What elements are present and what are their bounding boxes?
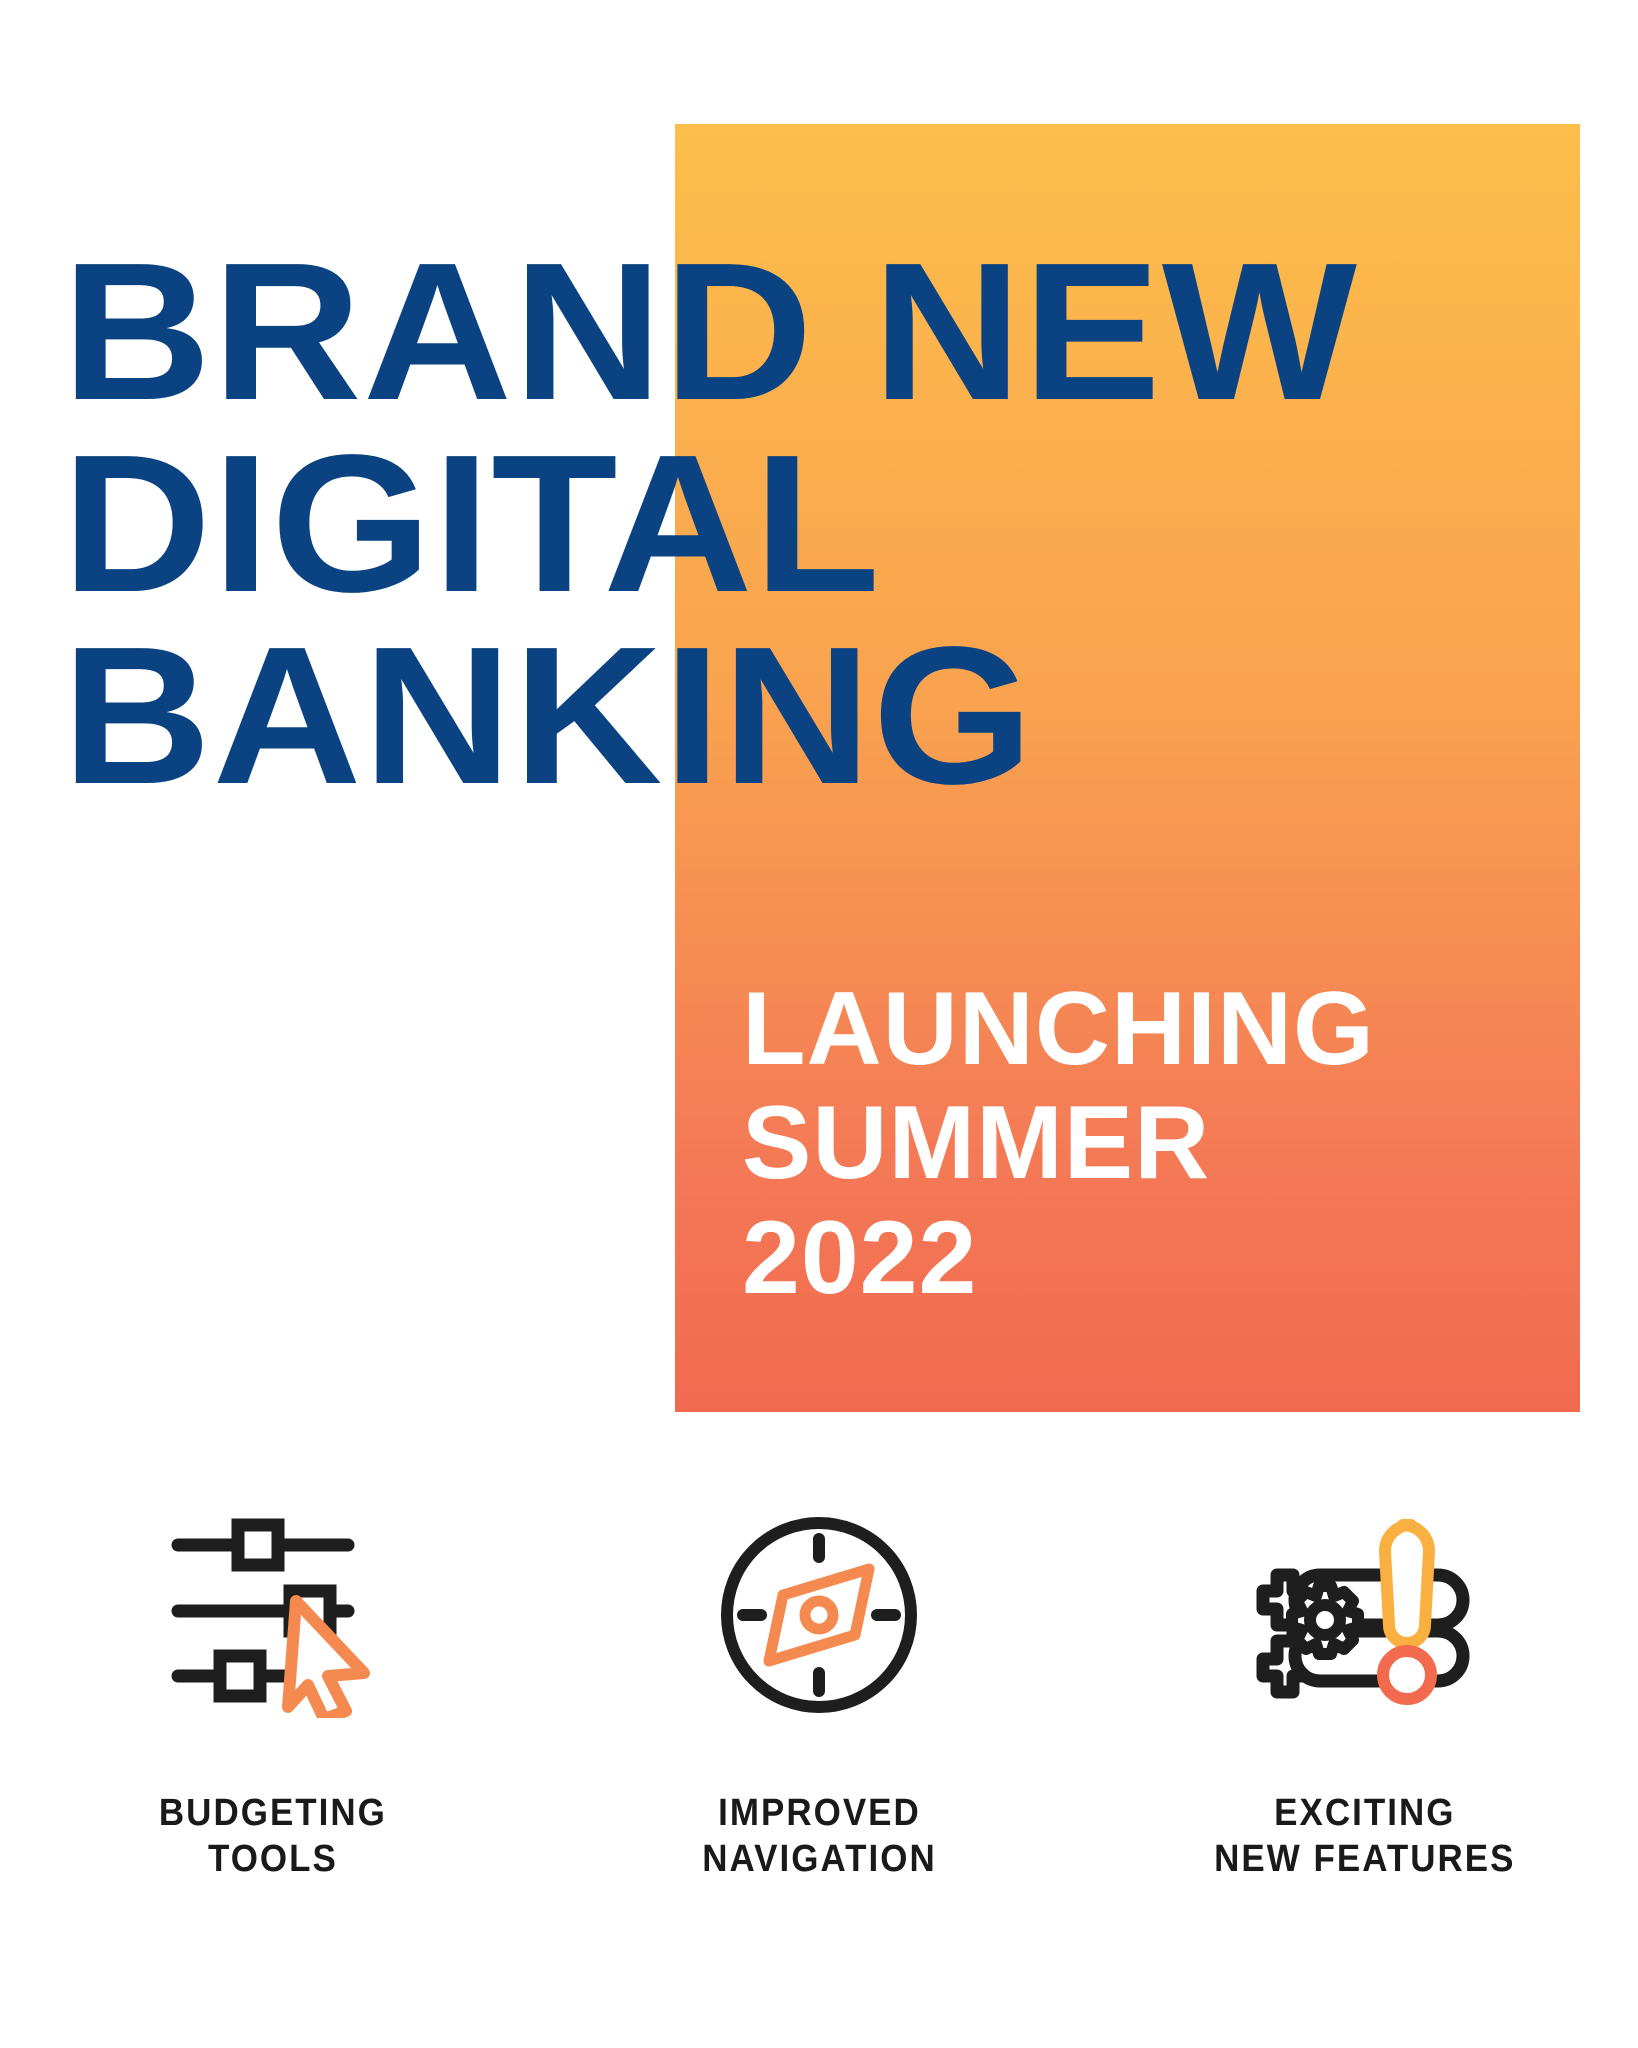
subheadline-line-2: SUMMER	[742, 1086, 1562, 1200]
feature-label-line-1: IMPROVED	[718, 1792, 921, 1834]
feature-label-improved-navigation: IMPROVED NAVIGATION	[702, 1790, 937, 1883]
subheadline-line-1: LAUNCHING	[742, 972, 1562, 1086]
feature-label-exciting-new-features: EXCITING NEW FEATURES	[1214, 1790, 1515, 1883]
headline-line-1: BRAND NEW	[62, 236, 1638, 428]
feature-item-exciting-new-features: EXCITING NEW FEATURES	[1150, 1500, 1580, 1883]
feature-item-improved-navigation: IMPROVED NAVIGATION	[604, 1500, 1034, 1883]
feature-label-budgeting-tools: BUDGETING TOOLS	[159, 1790, 387, 1883]
feature-label-line-2: TOOLS	[159, 1836, 387, 1882]
feature-label-line-2: NEW FEATURES	[1214, 1836, 1515, 1882]
feature-label-line-1: BUDGETING	[159, 1792, 387, 1834]
feature-item-budgeting-tools: BUDGETING TOOLS	[58, 1500, 488, 1883]
subheadline: LAUNCHING SUMMER 2022	[742, 972, 1562, 1315]
headline-line-2: DIGITAL	[62, 428, 1638, 620]
feature-list: BUDGETING TOOLS	[0, 1500, 1638, 1883]
poster-canvas: BRAND NEW DIGITAL BANKING LAUNCHING SUMM…	[0, 0, 1638, 2048]
feature-label-line-2: NAVIGATION	[702, 1836, 937, 1882]
feature-label-line-1: EXCITING	[1274, 1792, 1455, 1834]
sliders-cursor-icon	[168, 1500, 378, 1730]
page-title: BRAND NEW DIGITAL BANKING	[62, 236, 1582, 812]
headline-line-3: BANKING	[62, 620, 1638, 812]
compass-icon	[717, 1500, 922, 1730]
subheadline-line-3: 2022	[742, 1201, 1562, 1315]
gear-settings-alert-icon	[1253, 1500, 1478, 1730]
